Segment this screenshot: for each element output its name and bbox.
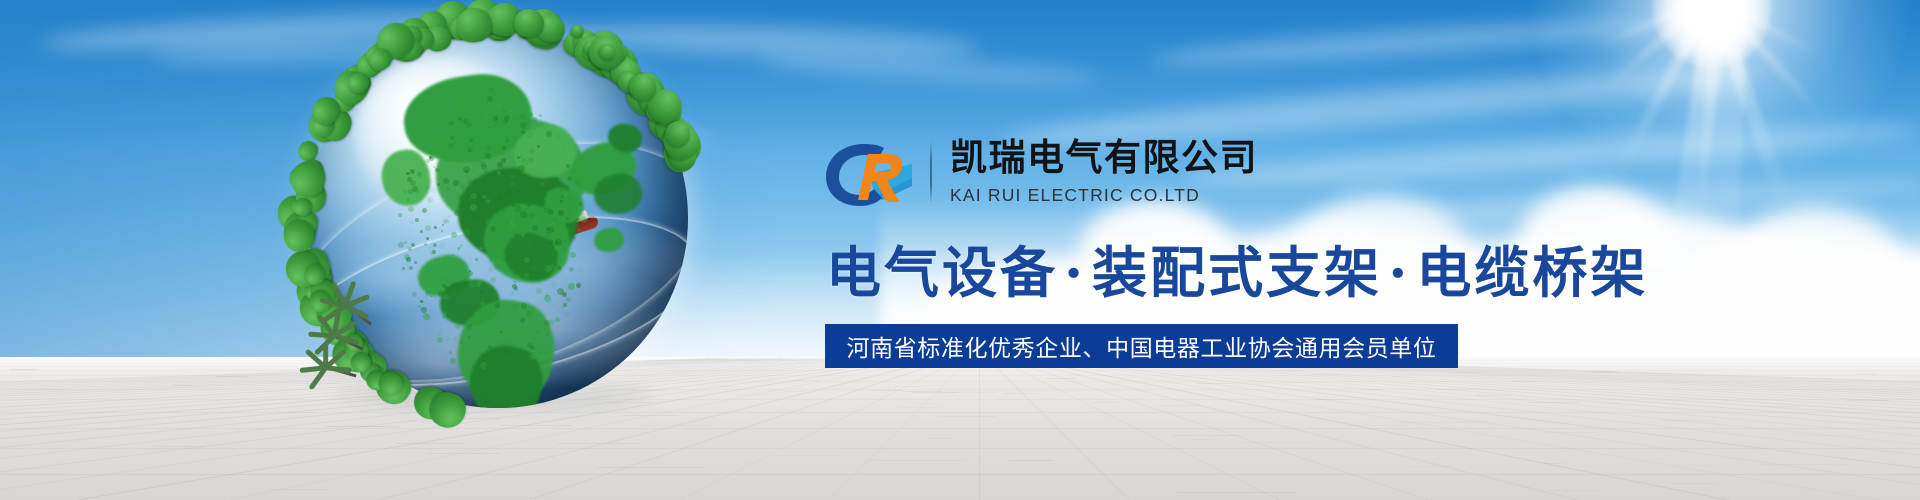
headline-segment-1: 电气设备 [826, 240, 1058, 305]
page-title: 电气设备·装配式支架·电缆桥架 [826, 228, 1648, 308]
brand-lockup[interactable]: 凯瑞电气有限公司 KAI RUI ELECTRIC CO.LTD [824, 134, 1258, 210]
logo-divider [930, 142, 932, 202]
headline-separator-1: · [1058, 240, 1092, 305]
company-name-cn: 凯瑞电气有限公司 [950, 138, 1258, 179]
headline-separator-2: · [1382, 240, 1416, 305]
hero-banner: 凯瑞电气有限公司 KAI RUI ELECTRIC CO.LTD 电气设备·装配… [0, 0, 1920, 500]
headline-segment-2: 装配式支架 [1092, 240, 1382, 305]
cr-monogram-logo-icon [824, 134, 916, 210]
badge-label: 河南省标准化优秀企业、中国电器工业协会通用会员单位 [847, 329, 1437, 363]
banner-content: 凯瑞电气有限公司 KAI RUI ELECTRIC CO.LTD 电气设备·装配… [0, 0, 1920, 500]
company-name-en: KAI RUI ELECTRIC CO.LTD [950, 185, 1258, 206]
headline-segment-3: 电缆桥架 [1416, 240, 1648, 305]
status-badge: 河南省标准化优秀企业、中国电器工业协会通用会员单位 [825, 324, 1458, 368]
